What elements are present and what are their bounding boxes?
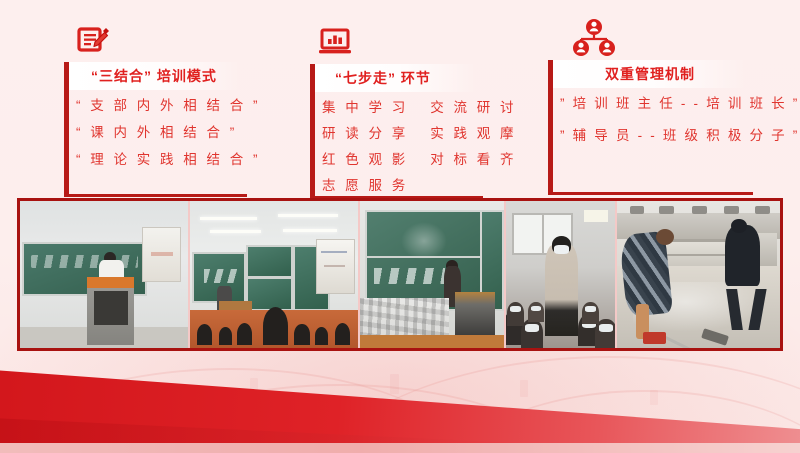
card-body: “ 支 部 内 外 相 结 合 ” “ 课 内 外 相 结 合 ” “ 理 论 … [76, 94, 261, 175]
laptop-chart-icon [318, 26, 352, 58]
photo-caption: 入 党 积 极 分 子 培 训 [24, 336, 84, 345]
card-item: 红 色 观 影 [322, 148, 408, 168]
card-title-bar: 双重管理机制 [553, 60, 747, 88]
photo-caption: 积 极 分 子 培 训 [194, 336, 238, 345]
photo-strip: 入 党 积 极 分 子 培 训 积 极 分 子 培 训 [17, 198, 783, 351]
photo-standing-student[interactable]: 学员发言 [506, 201, 617, 348]
info-cards: “三结合” 培训模式 “ 支 部 内 外 相 结 合 ” “ 课 内 外 相 结… [0, 0, 800, 190]
card-title-bar: “三结合” 培训模式 [69, 62, 241, 90]
card-title: “七步走” 环节 [315, 68, 431, 88]
card-item: “ 课 内 外 相 结 合 ” [76, 121, 261, 141]
photo-classroom-audience[interactable]: 积 极 分 子 培 训 [190, 201, 360, 348]
card-item: ” 培 训 班 主 任 - - 培 训 班 长 ” [560, 92, 800, 112]
photo-lecture-podium[interactable]: 入 党 积 极 分 子 培 训 [20, 201, 190, 348]
card-item: ” 辅 导 员 - - 班 级 积 极 分 子 ” [560, 124, 800, 144]
photo-volunteer-cleaning[interactable]: 志愿服务 打扫卫生 [617, 201, 780, 348]
card-item: 志 愿 服 务 [322, 174, 408, 194]
card-item: 研 读 分 享 [322, 122, 408, 142]
card-item: “ 理 论 实 践 相 结 合 ” [76, 148, 261, 168]
card-item: 对 标 看 齐 [430, 148, 516, 168]
card-title: 双重管理机制 [605, 64, 695, 84]
document-pencil-icon [76, 22, 110, 56]
org-chart-people-icon [572, 18, 616, 58]
card-item: 集 中 学 习 [322, 96, 408, 116]
card-title: “三结合” 培训模式 [69, 66, 217, 86]
photo-caption: 学员发言 [510, 336, 534, 345]
card-item: “ 支 部 内 外 相 结 合 ” [76, 94, 261, 114]
ribbon-bottom-edge [0, 443, 800, 453]
card-item: 实 践 观 摩 [430, 122, 516, 142]
card-body: 集 中 学 习 交 流 研 讨 研 读 分 享 实 践 观 摩 红 色 观 影 … [322, 96, 517, 200]
card-body: ” 培 训 班 主 任 - - 培 训 班 长 ” ” 辅 导 员 - - 班 … [560, 92, 800, 156]
photo-caption: 分 组 讨 论 汇 报 [364, 336, 408, 345]
photo-caption: 志愿服务 打扫卫生 [621, 336, 671, 345]
poster-canvas: “三结合” 培训模式 “ 支 部 内 外 相 结 合 ” “ 课 内 外 相 结… [0, 0, 800, 453]
card-title-bar: “七步走” 环节 [315, 64, 477, 92]
photo-group-discussion[interactable]: 分 组 讨 论 汇 报 [360, 201, 505, 348]
card-item: 交 流 研 讨 [430, 96, 516, 116]
